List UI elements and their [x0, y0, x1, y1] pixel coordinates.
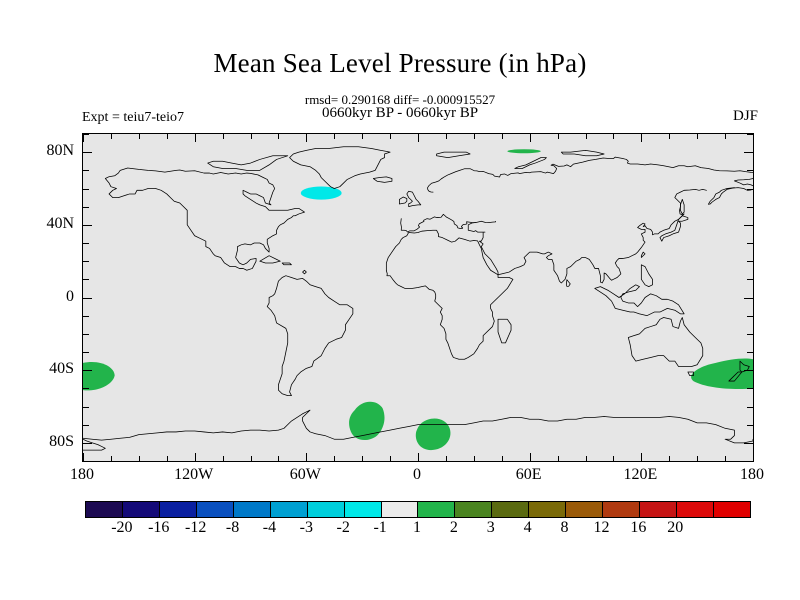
x-tick	[586, 134, 587, 139]
coastline-path	[407, 191, 421, 206]
x-tick	[418, 134, 419, 142]
coastlines	[83, 147, 753, 450]
x-tick	[223, 134, 224, 139]
colorbar-tick-label: 12	[593, 519, 609, 537]
colorbar-segment	[381, 502, 418, 517]
coastline-path	[660, 216, 688, 241]
colorbar-segment	[344, 502, 381, 517]
colorbar-tick-label: -1	[373, 519, 386, 537]
coastline-path	[386, 271, 513, 360]
y-tick	[83, 243, 89, 244]
y-tick	[83, 388, 89, 389]
x-tick	[446, 134, 447, 139]
x-tick	[195, 453, 196, 461]
x-tick	[111, 456, 112, 461]
y-tick	[747, 279, 753, 280]
x-tick	[362, 456, 363, 461]
x-tick	[753, 453, 754, 461]
x-axis-label: 180	[740, 466, 764, 484]
x-tick	[418, 453, 419, 461]
y-axis-label: 0	[66, 288, 74, 306]
shaded-anomaly-regions	[83, 149, 753, 450]
coastline-path	[561, 150, 604, 155]
coastline-path	[437, 152, 471, 157]
colorbar-tick-label: 20	[667, 519, 683, 537]
page-title: Mean Sea Level Pressure (in hPa)	[0, 48, 800, 79]
colorbar-segment	[417, 502, 454, 517]
colorbar-segment	[676, 502, 713, 517]
colorbar-tick-label: 16	[630, 519, 646, 537]
x-tick	[530, 453, 531, 461]
coastline-path	[468, 189, 706, 283]
x-tick	[586, 456, 587, 461]
x-tick	[167, 456, 168, 461]
coastline-path	[641, 265, 652, 287]
y-tick	[83, 170, 89, 171]
coastline-path	[680, 199, 684, 214]
shaded-region-north-pacific-west	[83, 362, 115, 390]
y-tick	[747, 334, 753, 335]
x-tick	[195, 134, 196, 142]
x-tick	[697, 456, 698, 461]
coastline-path	[399, 197, 406, 204]
x-tick	[139, 456, 140, 461]
coastline-path	[290, 147, 391, 189]
y-tick	[83, 334, 89, 335]
y-tick	[83, 279, 89, 280]
experiment-label: Expt = teiu7-teio7	[82, 110, 184, 126]
coastline-path	[386, 230, 498, 275]
x-axis-label: 180	[70, 466, 94, 484]
y-tick	[747, 207, 753, 208]
colorbar-segment	[454, 502, 491, 517]
x-tick	[558, 456, 559, 461]
shaded-region-svalbard-sliver	[507, 149, 541, 153]
y-tick	[83, 461, 89, 462]
coastline-path	[734, 179, 753, 186]
colorbar-segment	[602, 502, 639, 517]
y-tick	[747, 352, 753, 353]
x-tick	[306, 453, 307, 461]
x-tick	[251, 134, 252, 139]
y-axis-label: 80S	[49, 433, 74, 451]
x-tick	[669, 456, 670, 461]
colorbar-segment	[270, 502, 307, 517]
x-tick	[83, 453, 84, 461]
coastline-path	[515, 158, 547, 169]
colorbar-tick-label: -3	[300, 519, 313, 537]
y-axis-label: 40N	[46, 215, 74, 233]
coastline-path	[208, 156, 288, 171]
x-tick	[111, 134, 112, 139]
y-tick	[747, 388, 753, 389]
x-tick	[725, 456, 726, 461]
x-tick	[558, 134, 559, 139]
colorbar-tick-label: 3	[487, 519, 495, 537]
colorbar-segment	[565, 502, 602, 517]
colorbar-segment	[196, 502, 233, 517]
coastline-path	[641, 252, 645, 257]
colorbar-tick-label: -16	[148, 519, 169, 537]
y-tick	[83, 207, 89, 208]
x-tick	[83, 134, 84, 142]
y-axis-label: 40S	[49, 360, 74, 378]
colorbar-tick-label: 2	[450, 519, 458, 537]
x-tick	[334, 134, 335, 139]
y-tick	[747, 134, 753, 135]
coastline-path	[566, 280, 570, 287]
x-tick	[753, 134, 754, 142]
coastline-path	[628, 317, 702, 366]
y-tick	[747, 189, 753, 190]
x-tick	[613, 134, 614, 139]
y-tick	[83, 407, 89, 408]
colorbar-segment	[233, 502, 270, 517]
y-tick	[83, 261, 89, 262]
x-tick	[251, 456, 252, 461]
colorbar-tick-label: -2	[337, 519, 350, 537]
colorbar-segment	[639, 502, 676, 517]
y-tick	[744, 370, 753, 371]
x-tick	[278, 456, 279, 461]
x-tick	[390, 134, 391, 139]
coastline-path	[708, 188, 751, 205]
x-tick	[725, 134, 726, 139]
x-tick	[641, 134, 642, 142]
x-tick	[530, 134, 531, 142]
x-tick	[278, 134, 279, 139]
x-tick	[223, 456, 224, 461]
y-tick	[747, 316, 753, 317]
shaded-region-north-pacific-east	[691, 359, 753, 389]
x-axis-label: 60E	[516, 466, 542, 484]
x-tick	[139, 134, 140, 139]
y-tick	[747, 261, 753, 262]
coastline-path	[282, 263, 291, 265]
coastline-path	[427, 157, 753, 192]
map-plot-area	[82, 133, 754, 462]
y-axis-label: 80N	[46, 142, 74, 160]
msl-pressure-figure: Mean Sea Level Pressure (in hPa) rmsd= 0…	[0, 0, 800, 600]
x-tick	[390, 456, 391, 461]
colorbar-segment	[86, 502, 122, 517]
coastline-path	[595, 285, 684, 316]
y-tick	[747, 461, 753, 462]
colorbar-segment	[122, 502, 159, 517]
y-tick	[744, 443, 753, 444]
x-axis-label: 120E	[623, 466, 657, 484]
y-tick	[83, 370, 92, 371]
colorbar-segment	[713, 502, 750, 517]
y-tick	[83, 425, 89, 426]
coastline-path	[105, 168, 304, 270]
y-tick	[83, 225, 92, 226]
colorbar-segment	[159, 502, 196, 517]
y-tick	[83, 152, 92, 153]
coastline-path	[260, 256, 280, 263]
x-tick	[167, 134, 168, 139]
x-tick	[613, 456, 614, 461]
y-tick	[747, 425, 753, 426]
colorbar-tick-label: -4	[263, 519, 276, 537]
x-axis-label: 60W	[290, 466, 321, 484]
colorbar-tick-label: -8	[226, 519, 239, 537]
season-label: DJF	[733, 108, 758, 125]
x-tick	[474, 456, 475, 461]
x-axis-label: 0	[413, 466, 421, 484]
world-coastline-map	[83, 134, 753, 461]
colorbar-tick-label: -20	[111, 519, 132, 537]
colorbar-tick-label: -12	[185, 519, 206, 537]
y-tick	[744, 225, 753, 226]
y-tick	[83, 134, 89, 135]
colorbar-tick-label: 4	[524, 519, 532, 537]
x-tick	[669, 134, 670, 139]
colorbar-segment	[307, 502, 344, 517]
x-axis-label: 120W	[174, 466, 213, 484]
y-tick	[744, 298, 753, 299]
coastline-path	[267, 276, 353, 396]
coastline-path	[303, 270, 307, 274]
y-tick	[83, 316, 89, 317]
x-tick	[446, 456, 447, 461]
x-tick	[334, 456, 335, 461]
x-tick	[502, 134, 503, 139]
colorbar-tick-label: 1	[413, 519, 421, 537]
coastline-path	[373, 177, 392, 182]
y-tick	[83, 443, 92, 444]
y-tick	[83, 352, 89, 353]
colorbar-tick-label: 8	[561, 519, 569, 537]
colorbar-segment	[528, 502, 565, 517]
coastline-path	[83, 439, 105, 450]
y-tick	[747, 407, 753, 408]
x-tick	[502, 456, 503, 461]
y-tick	[747, 243, 753, 244]
x-tick	[641, 453, 642, 461]
x-tick	[306, 134, 307, 142]
y-tick	[747, 170, 753, 171]
y-tick	[83, 298, 92, 299]
x-tick	[474, 134, 475, 139]
x-tick	[362, 134, 363, 139]
shaded-region-norwegian-sea	[416, 418, 451, 450]
x-tick	[697, 134, 698, 139]
colorbar-tick-labels: -20-16-12-8-4-3-2-112348121620	[85, 519, 749, 541]
y-tick	[83, 189, 89, 190]
colorbar-segment	[491, 502, 528, 517]
coastline-path	[401, 214, 496, 232]
y-tick	[744, 152, 753, 153]
colorbar	[85, 501, 751, 518]
coastline-path	[498, 319, 511, 343]
